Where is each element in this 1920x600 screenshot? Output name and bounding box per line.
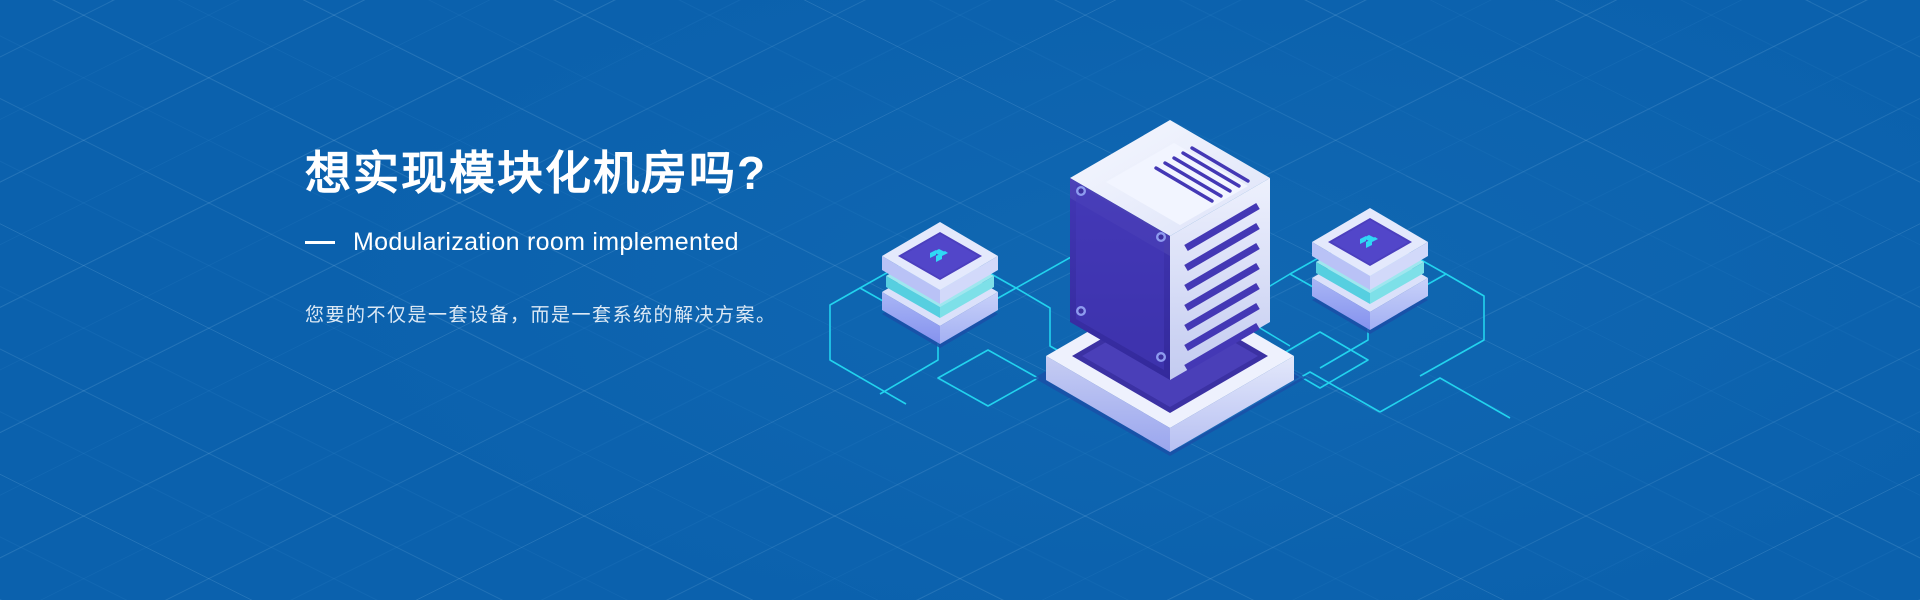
hero-banner: 想实现模块化机房吗? Modularization room implement…: [0, 0, 1920, 600]
server-tower: [1034, 120, 1306, 456]
banner-subtitle: Modularization room implemented: [353, 228, 739, 257]
dash-icon: [305, 241, 335, 244]
isometric-server-illustration: [820, 60, 1520, 460]
chip-module-right: [1312, 208, 1428, 334]
chip-module-left: [882, 222, 998, 348]
